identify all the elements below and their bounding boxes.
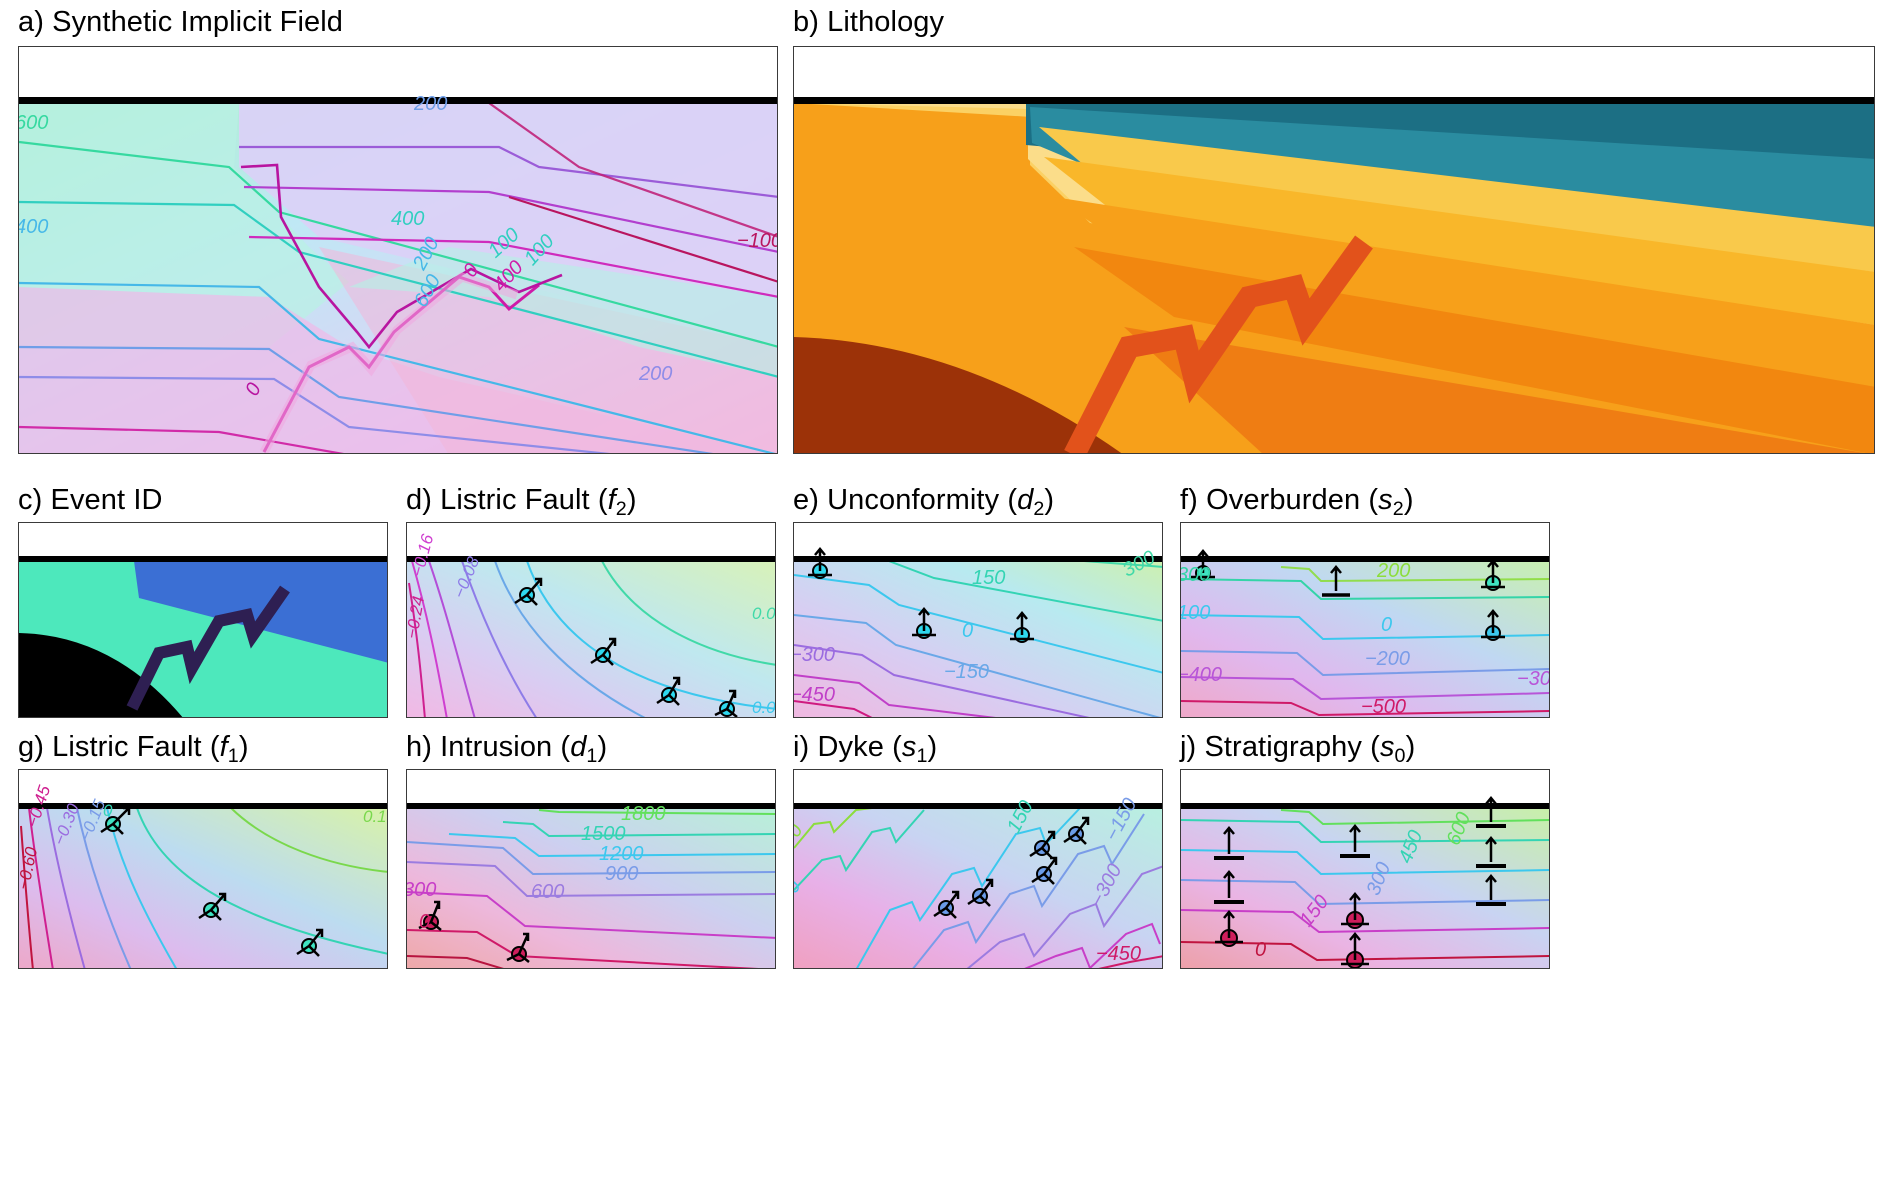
- panel-j-subscript: 0: [1395, 745, 1406, 767]
- panel-j-axes: 600 450 300 150 0: [1180, 769, 1550, 969]
- svg-text:300: 300: [407, 879, 436, 901]
- svg-text:−100: −100: [737, 230, 778, 252]
- panel-j-title-post: ): [1406, 731, 1416, 763]
- panel-b-axes: [793, 46, 1875, 454]
- panel-j-title-pre: j) Stratigraphy (: [1180, 731, 1380, 763]
- panel-i-symbol: s: [902, 731, 917, 763]
- panel-f-plot: 200 300 100 0 −200 −400 −300 −500: [1181, 523, 1550, 718]
- panel-h-plot: 1800 1500 1200 900 600 300 0: [407, 770, 776, 969]
- panel-g-subscript: 1: [228, 745, 239, 767]
- figure-root: a) Synthetic Implicit Field: [0, 0, 1892, 1184]
- panel-i-subscript: 1: [916, 745, 927, 767]
- svg-text:−450: −450: [794, 684, 835, 706]
- panel-d-symbol: f: [608, 484, 616, 516]
- panel-b-title: b) Lithology: [793, 8, 1875, 37]
- svg-text:−300: −300: [794, 644, 835, 666]
- panel-f-axes: 200 300 100 0 −200 −400 −300 −500: [1180, 522, 1550, 718]
- panel-g-title: g) Listric Fault (f1): [18, 733, 388, 762]
- panel-j-plot: 600 450 300 150 0: [1181, 770, 1550, 969]
- panel-i-title-post: ): [928, 731, 938, 763]
- panel-d-axes: −0.16 −0.08 −0.24 0.0 0.0: [406, 522, 776, 718]
- svg-text:−300: −300: [1517, 668, 1550, 690]
- panel-h-subscript: 1: [586, 745, 597, 767]
- svg-text:900: 900: [605, 863, 638, 885]
- svg-text:200: 200: [413, 93, 447, 115]
- svg-text:0: 0: [103, 801, 113, 820]
- svg-text:0: 0: [1255, 939, 1266, 961]
- svg-text:1500: 1500: [581, 823, 626, 845]
- panel-b: b) Lithology: [793, 8, 1875, 458]
- svg-text:100: 100: [1181, 602, 1210, 624]
- panel-d-title-pre: d) Listric Fault (: [406, 484, 608, 516]
- svg-text:−200: −200: [1365, 648, 1410, 670]
- panel-j-title: j) Stratigraphy (s0): [1180, 733, 1550, 762]
- svg-text:0: 0: [1381, 614, 1392, 636]
- svg-text:0.0: 0.0: [752, 698, 776, 717]
- panel-d-title-post: ): [627, 484, 637, 516]
- panel-a: a) Synthetic Implicit Field: [18, 8, 778, 458]
- svg-text:400: 400: [19, 216, 48, 238]
- svg-text:0: 0: [962, 620, 973, 642]
- panel-i-title-pre: i) Dyke (: [793, 731, 902, 763]
- panel-f-title-post: ): [1404, 484, 1414, 516]
- panel-e-axes: 150 0 300 −150 −300 −450: [793, 522, 1163, 718]
- svg-text:400: 400: [391, 208, 424, 230]
- panel-a-plot: 200 600 400 400 200 600 0 100 400 100 −1…: [19, 47, 778, 454]
- panel-c: c) Event ID: [18, 486, 388, 718]
- panel-i-axes: 150 0 0 −150 −300 −450: [793, 769, 1163, 969]
- panel-b-plot: [794, 47, 1875, 454]
- panel-e: e) Unconformity (d2): [793, 486, 1163, 718]
- svg-text:0.0: 0.0: [752, 604, 776, 623]
- panel-f-title-pre: f) Overburden (: [1180, 484, 1378, 516]
- svg-text:600: 600: [19, 112, 48, 134]
- panel-d: d) Listric Fault (f2): [406, 486, 776, 718]
- panel-e-subscript: 2: [1033, 498, 1044, 520]
- svg-text:−500: −500: [1361, 696, 1406, 718]
- panel-c-plot: [19, 523, 388, 718]
- panel-f-title: f) Overburden (s2): [1180, 486, 1550, 515]
- panel-e-title-post: ): [1044, 484, 1054, 516]
- panel-i-title: i) Dyke (s1): [793, 733, 1163, 762]
- svg-text:1200: 1200: [599, 843, 644, 865]
- panel-f-symbol: s: [1378, 484, 1393, 516]
- svg-text:−450: −450: [1096, 943, 1141, 965]
- svg-text:0.15: 0.15: [363, 807, 388, 826]
- panel-e-plot: 150 0 300 −150 −300 −450: [794, 523, 1163, 718]
- panel-d-subscript: 2: [616, 498, 627, 520]
- panel-f: f) Overburden (s2): [1180, 486, 1550, 718]
- panel-g-axes: −0.45 −0.30 −0.15 0 0.15 −0.60: [18, 769, 388, 969]
- panel-e-title-pre: e) Unconformity (: [793, 484, 1017, 516]
- panel-e-symbol: d: [1017, 484, 1033, 516]
- svg-text:600: 600: [531, 881, 564, 903]
- panel-h-title: h) Intrusion (d1): [406, 733, 776, 762]
- svg-text:−150: −150: [944, 661, 989, 683]
- svg-text:200: 200: [638, 363, 672, 385]
- svg-text:300: 300: [1181, 564, 1210, 586]
- panel-d-plot: −0.16 −0.08 −0.24 0.0 0.0: [407, 523, 776, 718]
- panel-h-title-post: ): [597, 731, 607, 763]
- panel-c-title: c) Event ID: [18, 486, 388, 515]
- panel-h-symbol: d: [570, 731, 586, 763]
- panel-j-symbol: s: [1380, 731, 1395, 763]
- panel-f-subscript: 2: [1393, 498, 1404, 520]
- panel-i-plot: 150 0 0 −150 −300 −450: [794, 770, 1163, 969]
- panel-c-axes: [18, 522, 388, 718]
- panel-h-axes: 1800 1500 1200 900 600 300 0: [406, 769, 776, 969]
- panel-j: j) Stratigraphy (s0): [1180, 733, 1550, 969]
- panel-g-title-post: ): [239, 731, 249, 763]
- panel-e-title: e) Unconformity (d2): [793, 486, 1163, 515]
- panel-g-title-pre: g) Listric Fault (: [18, 731, 220, 763]
- panel-g-symbol: f: [220, 731, 228, 763]
- panel-h-title-pre: h) Intrusion (: [406, 731, 570, 763]
- svg-text:150: 150: [972, 567, 1005, 589]
- panel-g: g) Listric Fault (f1): [18, 733, 388, 969]
- panel-g-plot: −0.45 −0.30 −0.15 0 0.15 −0.60: [19, 770, 388, 969]
- panel-h: h) Intrusion (d1): [406, 733, 776, 969]
- panel-d-title: d) Listric Fault (f2): [406, 486, 776, 515]
- svg-text:−400: −400: [1181, 664, 1222, 686]
- panel-i: i) Dyke (s1): [793, 733, 1163, 969]
- svg-text:0: 0: [419, 911, 430, 933]
- panel-a-axes: 200 600 400 400 200 600 0 100 400 100 −1…: [18, 46, 778, 454]
- svg-text:1800: 1800: [621, 803, 666, 825]
- panel-a-title: a) Synthetic Implicit Field: [18, 8, 778, 37]
- svg-text:200: 200: [1376, 560, 1410, 582]
